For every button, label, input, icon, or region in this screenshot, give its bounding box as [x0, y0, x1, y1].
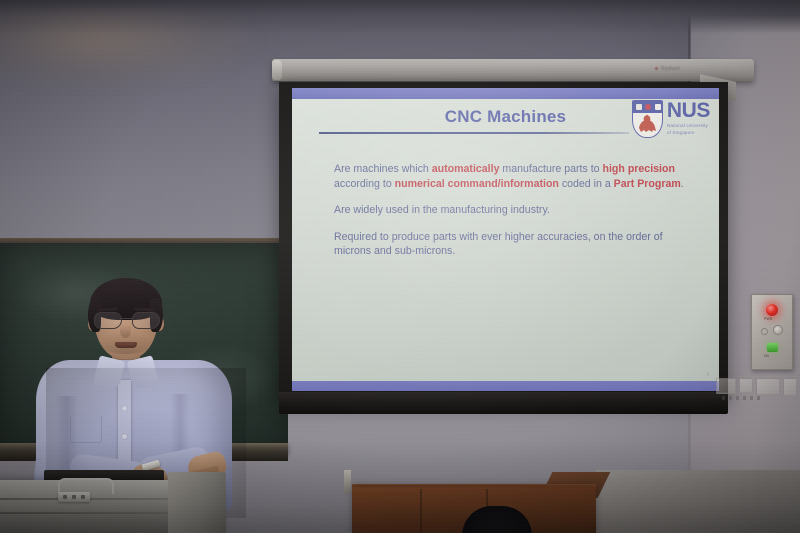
shield-book-icon — [636, 104, 642, 110]
highlighted-term: Part Program — [614, 178, 681, 190]
lecture-hall-photo: Radiant CNC Machines — [0, 0, 800, 533]
socket-dot — [743, 396, 746, 400]
slide-bottom-accent-band — [292, 381, 719, 391]
nus-subtitle-line2: of Singapore — [667, 130, 710, 137]
body-text-run: coded in a — [559, 178, 614, 190]
power-indicator-label: PWR — [764, 317, 773, 321]
nose — [120, 324, 131, 338]
socket-dot — [750, 396, 753, 400]
lion-icon — [636, 114, 659, 134]
light-switch[interactable] — [716, 378, 736, 394]
body-text-run: . — [681, 178, 684, 190]
panel-knob-secondary[interactable] — [761, 328, 768, 335]
latch-screw — [63, 495, 67, 499]
lens-left — [94, 312, 122, 329]
slide-paragraph: Required to produce parts with ever high… — [334, 230, 686, 259]
body-text-run: Required to produce parts with ever high… — [334, 231, 663, 258]
socket-dot — [757, 396, 760, 400]
highlighted-term: numerical command/information — [395, 178, 559, 190]
highlighted-term: automatically — [432, 163, 500, 175]
shirt-pocket — [70, 416, 102, 443]
lens-right — [132, 312, 160, 329]
ceiling-light-glow — [0, 8, 260, 88]
nus-shield-icon — [632, 100, 663, 138]
slide-top-accent-band — [292, 88, 719, 99]
mouth — [115, 342, 137, 348]
wall-outlet[interactable] — [756, 378, 780, 395]
nus-logo: NUS National University of Singapore — [632, 100, 710, 138]
case-latch[interactable] — [58, 492, 90, 502]
nus-wordmark-block: NUS National University of Singapore — [667, 100, 710, 136]
shirt-button — [122, 406, 127, 411]
nus-subtitle-line1: National University — [667, 123, 710, 130]
latch-screw — [72, 495, 76, 499]
body-text-run: Are machines which — [334, 163, 432, 175]
power-on-label: ON — [764, 354, 769, 358]
socket-dot — [729, 396, 732, 400]
slide-body-text: Are machines which automatically manufac… — [334, 162, 686, 259]
roller-brand-label: Radiant — [655, 64, 707, 73]
shield-medallion-icon — [645, 104, 651, 110]
socket-indicator-row — [722, 396, 786, 401]
panel-knob[interactable] — [773, 325, 783, 335]
body-text-run: Are widely used in the manufacturing ind… — [334, 204, 550, 216]
power-indicator-icon — [766, 304, 778, 316]
side-bench — [596, 470, 800, 533]
power-on-button[interactable] — [767, 343, 778, 352]
roller-end-cap — [272, 60, 282, 80]
highlighted-term: high precision — [603, 163, 675, 175]
lectern-panel-seam — [420, 489, 422, 533]
shirt-button — [122, 434, 127, 439]
presentation-slide: CNC Machines NUS National University — [292, 88, 719, 391]
case-side-panel — [168, 472, 226, 533]
slide-number: 4 — [706, 372, 709, 378]
light-switch[interactable] — [739, 378, 753, 393]
socket-dot — [722, 396, 725, 400]
slide-title-underline — [319, 132, 629, 134]
socket-dot — [736, 396, 739, 400]
slide-paragraph: Are widely used in the manufacturing ind… — [334, 203, 686, 218]
roller-brand-text: Radiant — [661, 66, 680, 72]
shield-crest-band — [633, 101, 663, 113]
body-text-run: manufacture parts to — [499, 163, 602, 175]
slide-paragraph: Are machines which automatically manufac… — [334, 162, 686, 191]
wall-outlet[interactable] — [783, 378, 797, 396]
lectern-post — [344, 470, 351, 494]
projector-screen-bottom-bar — [279, 392, 728, 414]
shield-emblem-icon — [655, 104, 661, 110]
latch-screw — [81, 495, 85, 499]
body-text-run: according to — [334, 178, 395, 190]
glasses-bridge — [120, 318, 132, 319]
brand-dot-icon — [655, 67, 658, 70]
projector-control-panel[interactable]: PWR ON — [751, 294, 793, 370]
nus-wordmark: NUS — [667, 100, 710, 121]
